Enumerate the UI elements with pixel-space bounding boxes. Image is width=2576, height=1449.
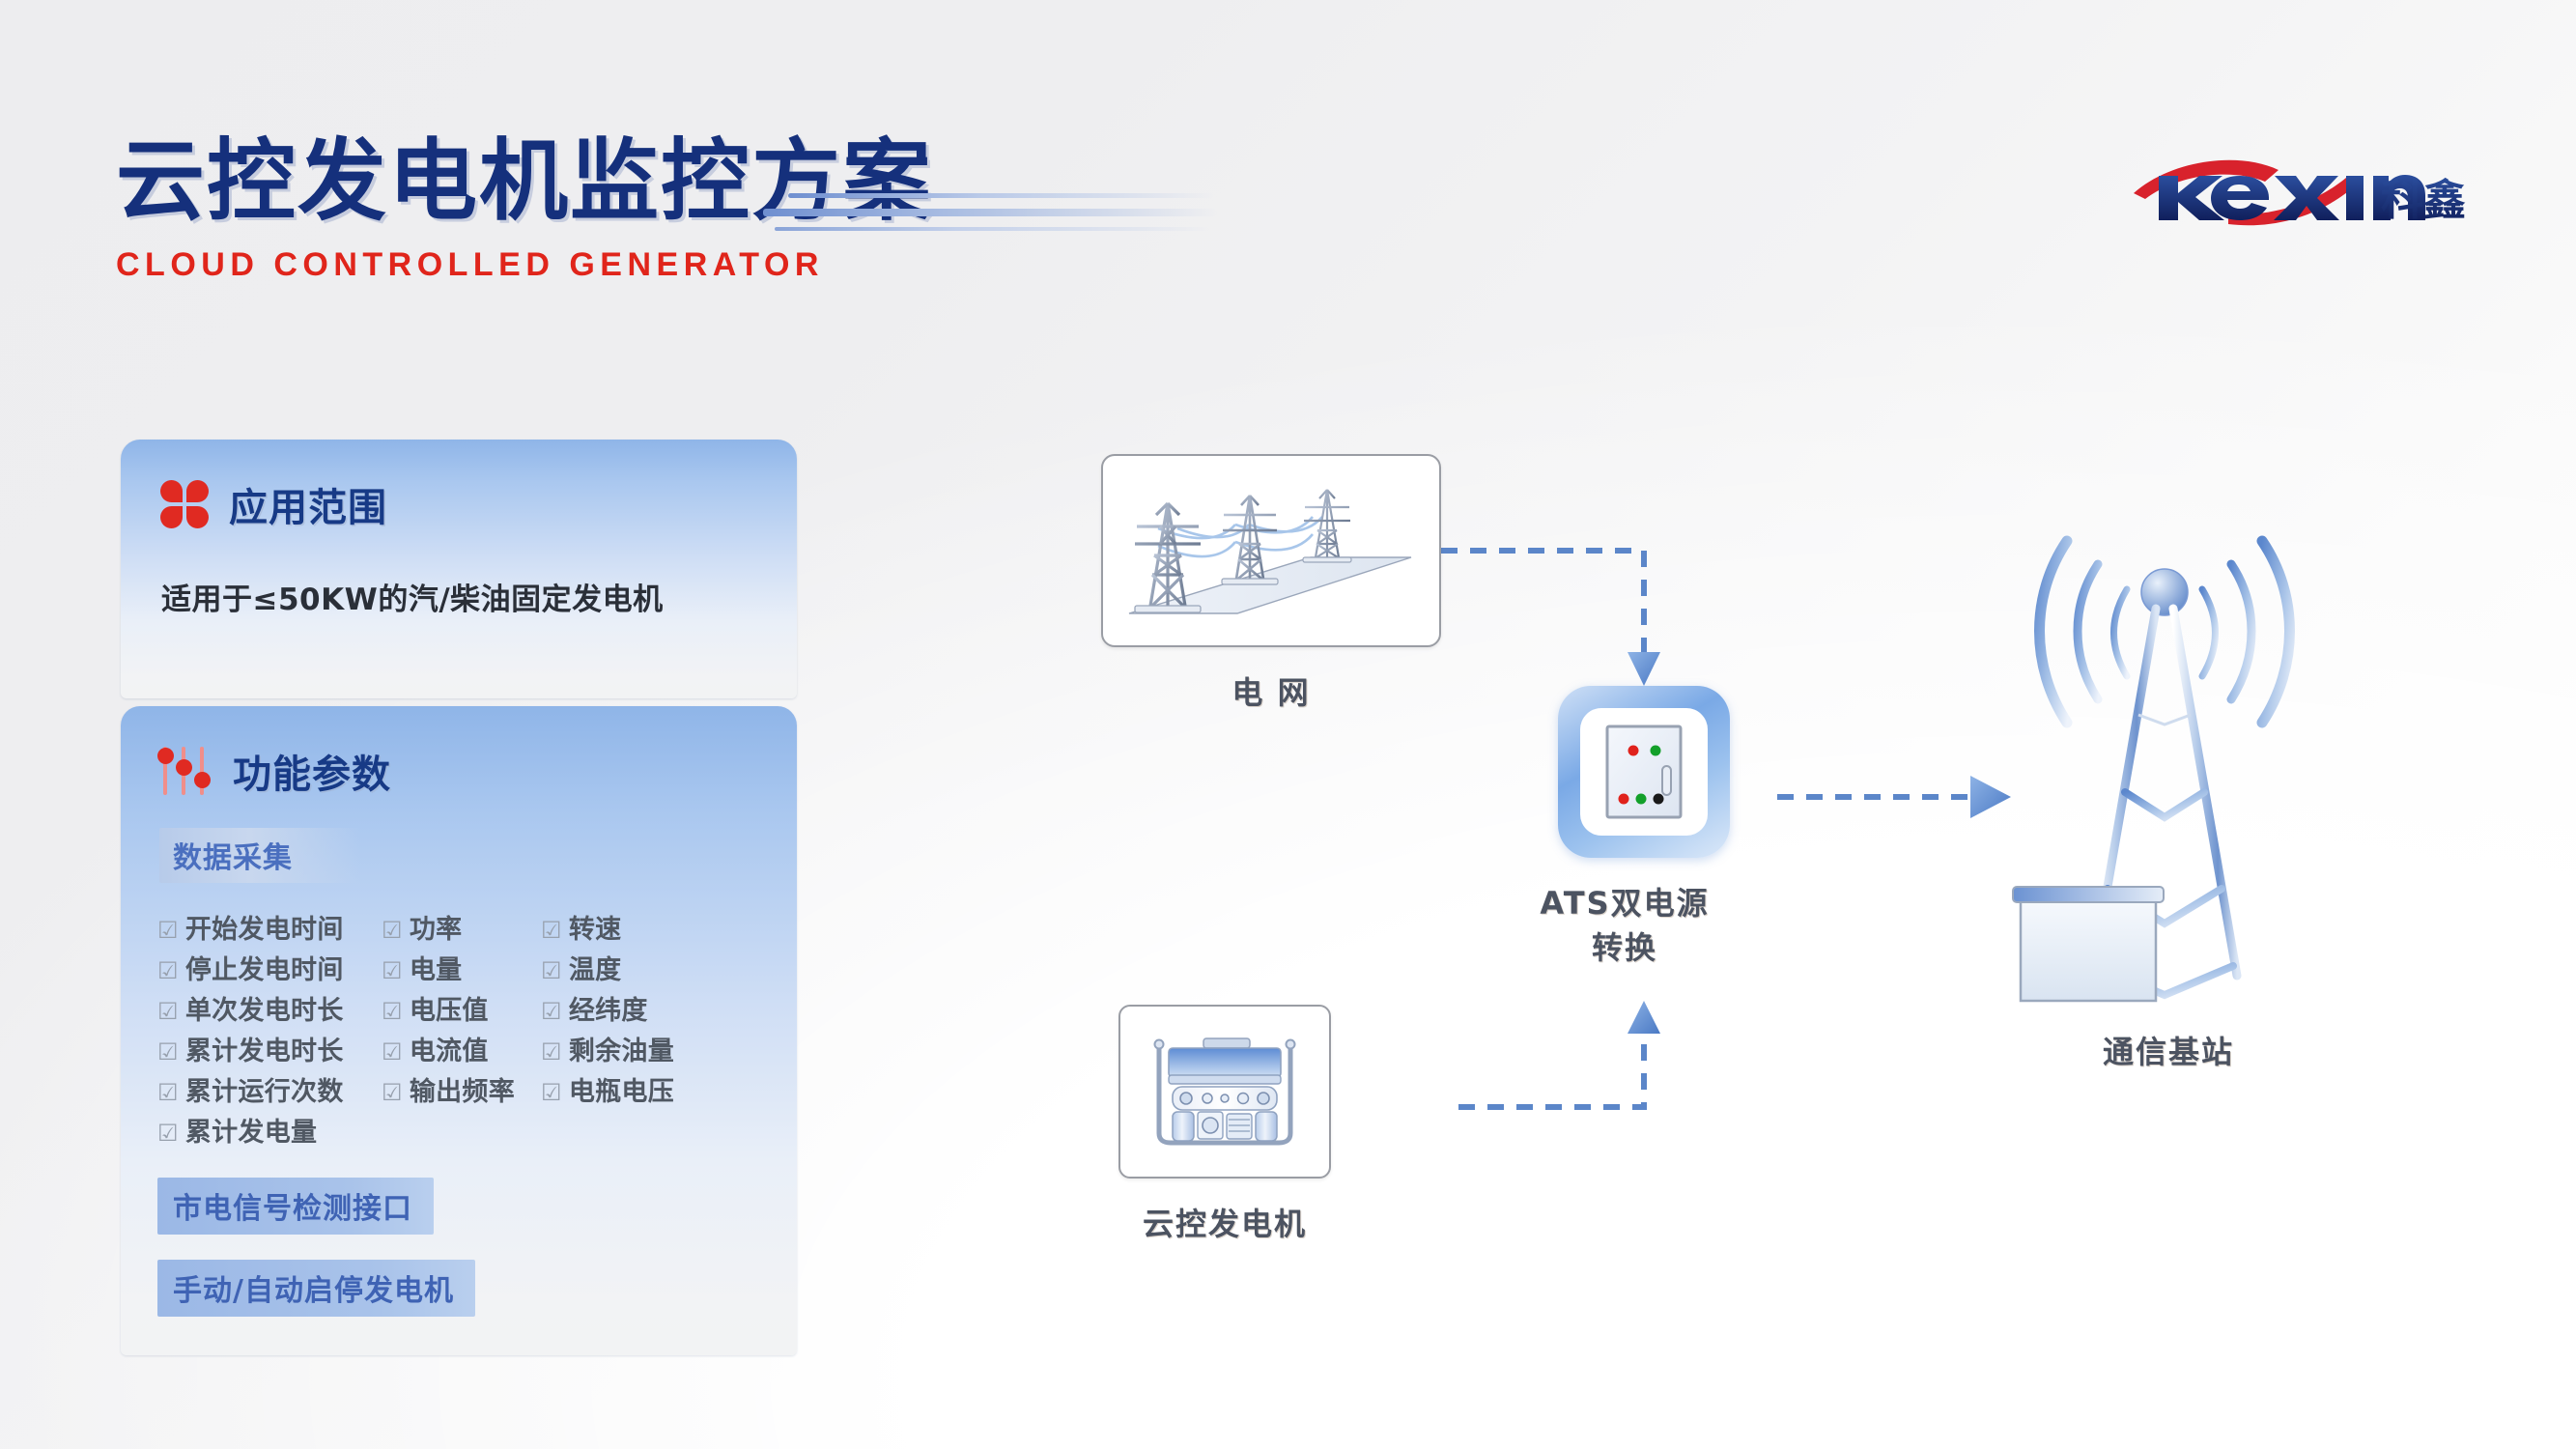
card-header: 功能参数 — [121, 706, 797, 799]
checkbox-icon: ☑ — [541, 998, 562, 1025]
checkbox-icon: ☑ — [382, 998, 403, 1025]
feature-tag-mains-signal: 市电信号检测接口 — [157, 1178, 434, 1235]
connector-generator-to-ats — [1458, 1001, 1660, 1107]
list-item-label: 电压值 — [410, 989, 489, 1027]
node-box — [1101, 454, 1441, 647]
list-item[interactable]: ☑累计发电量 — [157, 1111, 382, 1149]
connector-grid-to-ats — [1441, 551, 1660, 686]
page-subtitle: CLOUD CONTROLLED GENERATOR — [116, 246, 933, 284]
node-label: ATS双电源转换 — [1539, 879, 1711, 968]
decoration-line-3 — [775, 227, 1209, 231]
list-item[interactable]: ☑电流值 — [382, 1030, 541, 1067]
checkbox-icon: ☑ — [541, 1038, 562, 1065]
header-decoration-lines — [763, 193, 1217, 231]
feature-tag-manual-auto-start: 手动/自动启停发电机 — [157, 1260, 475, 1317]
card-title: 功能参数 — [233, 743, 391, 799]
list-item[interactable]: ☑温度 — [541, 949, 797, 986]
checkbox-icon: ☑ — [382, 917, 403, 944]
node-box — [1118, 1005, 1331, 1179]
node-label: 云控发电机 — [1118, 1200, 1331, 1244]
list-item[interactable]: ☑经纬度 — [541, 989, 797, 1027]
list-item[interactable]: ☑停止发电时间 — [157, 949, 382, 986]
slide-canvas: 云控发电机监控方案 CLOUD CONTROLLED GENERATOR — [0, 0, 2576, 1449]
list-item-label: 单次发电时长 — [185, 989, 344, 1027]
list-item-label: 电流值 — [410, 1030, 489, 1067]
list-item-label: 输出频率 — [410, 1070, 515, 1108]
checkbox-icon: ☑ — [541, 917, 562, 944]
diagram-node-ats[interactable]: ATS双电源转换 — [1558, 686, 1730, 968]
decoration-line-1 — [788, 193, 1213, 198]
checkbox-icon: ☑ — [157, 1120, 179, 1147]
list-item[interactable]: ☑开始发电时间 — [157, 908, 382, 946]
list-item[interactable]: ☑输出频率 — [382, 1070, 541, 1108]
card-body-text: 适用于≤50KW的汽/柴油固定发电机 — [121, 532, 797, 618]
checkbox-icon: ☑ — [157, 998, 179, 1025]
card-function-parameters: 功能参数 数据采集 ☑开始发电时间 ☑功率 ☑转速 ☑停止发电时间 ☑电量 ☑温… — [121, 706, 797, 1355]
ats-glow-frame — [1558, 686, 1730, 858]
list-item[interactable]: ☑电瓶电压 — [541, 1070, 797, 1108]
checkbox-icon: ☑ — [382, 1079, 403, 1106]
system-diagram: 电 网 — [1101, 454, 2473, 1227]
list-item[interactable]: ☑剩余油量 — [541, 1030, 797, 1067]
list-item-label: 累计运行次数 — [185, 1070, 344, 1108]
logo-chinese-text: 科鑫 — [2381, 176, 2466, 225]
list-item-label: 转速 — [569, 908, 622, 946]
clover-icon — [159, 479, 210, 529]
checkbox-icon: ☑ — [157, 917, 179, 944]
checkbox-icon: ☑ — [541, 1079, 562, 1106]
node-label: 电 网 — [1101, 668, 1441, 713]
list-item-label: 温度 — [569, 949, 622, 986]
checkbox-icon: ☑ — [157, 1079, 179, 1106]
power-pylon-icon — [1121, 469, 1421, 633]
list-item-label: 功率 — [410, 908, 463, 946]
card-application-scope: 应用范围 适用于≤50KW的汽/柴油固定发电机 — [121, 440, 797, 698]
checkbox-icon: ☑ — [541, 957, 562, 984]
generator-icon — [1147, 1033, 1302, 1151]
checkbox-icon: ☑ — [382, 957, 403, 984]
list-item[interactable]: ☑电压值 — [382, 989, 541, 1027]
list-item[interactable]: ☑累计发电时长 — [157, 1030, 382, 1067]
checkbox-icon: ☑ — [157, 957, 179, 984]
diagram-node-grid[interactable]: 电 网 — [1101, 454, 1441, 713]
checkbox-icon: ☑ — [382, 1038, 403, 1065]
diagram-node-station[interactable]: 通信基站 — [2009, 493, 2328, 1072]
node-label: 通信基站 — [2009, 1028, 2328, 1072]
diagram-node-generator[interactable]: 云控发电机 — [1118, 1005, 1331, 1244]
list-item-label: 电量 — [410, 949, 463, 986]
card-header: 应用范围 — [121, 440, 797, 532]
feature-tag-row: 手动/自动启停发电机 — [157, 1260, 797, 1317]
decoration-line-2 — [763, 209, 1217, 216]
list-item-label: 剩余油量 — [569, 1030, 674, 1067]
checklist-grid: ☑开始发电时间 ☑功率 ☑转速 ☑停止发电时间 ☑电量 ☑温度 ☑单次发电时长 … — [157, 908, 797, 1149]
checkbox-icon: ☑ — [157, 1038, 179, 1065]
list-item-label: 开始发电时间 — [185, 908, 344, 946]
list-item-label: 累计发电时长 — [185, 1030, 344, 1067]
list-item-label: 经纬度 — [569, 989, 648, 1027]
list-item[interactable]: ☑转速 — [541, 908, 797, 946]
list-item[interactable]: ☑功率 — [382, 908, 541, 946]
section-tag-data-collection: 数据采集 — [159, 828, 360, 883]
connector-ats-to-station — [1777, 776, 2011, 818]
info-panel: 应用范围 适用于≤50KW的汽/柴油固定发电机 功能参数 数据采集 ☑开始发电时… — [121, 440, 797, 1355]
brand-logo: 科鑫 — [2132, 155, 2479, 236]
list-item[interactable]: ☑累计运行次数 — [157, 1070, 382, 1108]
feature-tag-row: 市电信号检测接口 — [157, 1178, 797, 1235]
list-item[interactable]: ☑电量 — [382, 949, 541, 986]
card-title: 应用范围 — [229, 476, 387, 532]
list-item-label: 停止发电时间 — [185, 949, 344, 986]
cell-tower-icon — [2009, 493, 2328, 1034]
list-item-label: 累计发电量 — [185, 1111, 318, 1149]
ats-panel-icon — [1604, 724, 1684, 820]
list-item[interactable]: ☑单次发电时长 — [157, 989, 382, 1027]
sliders-icon — [159, 745, 213, 797]
list-item-label: 电瓶电压 — [569, 1070, 674, 1108]
ats-inner-box — [1580, 708, 1708, 836]
